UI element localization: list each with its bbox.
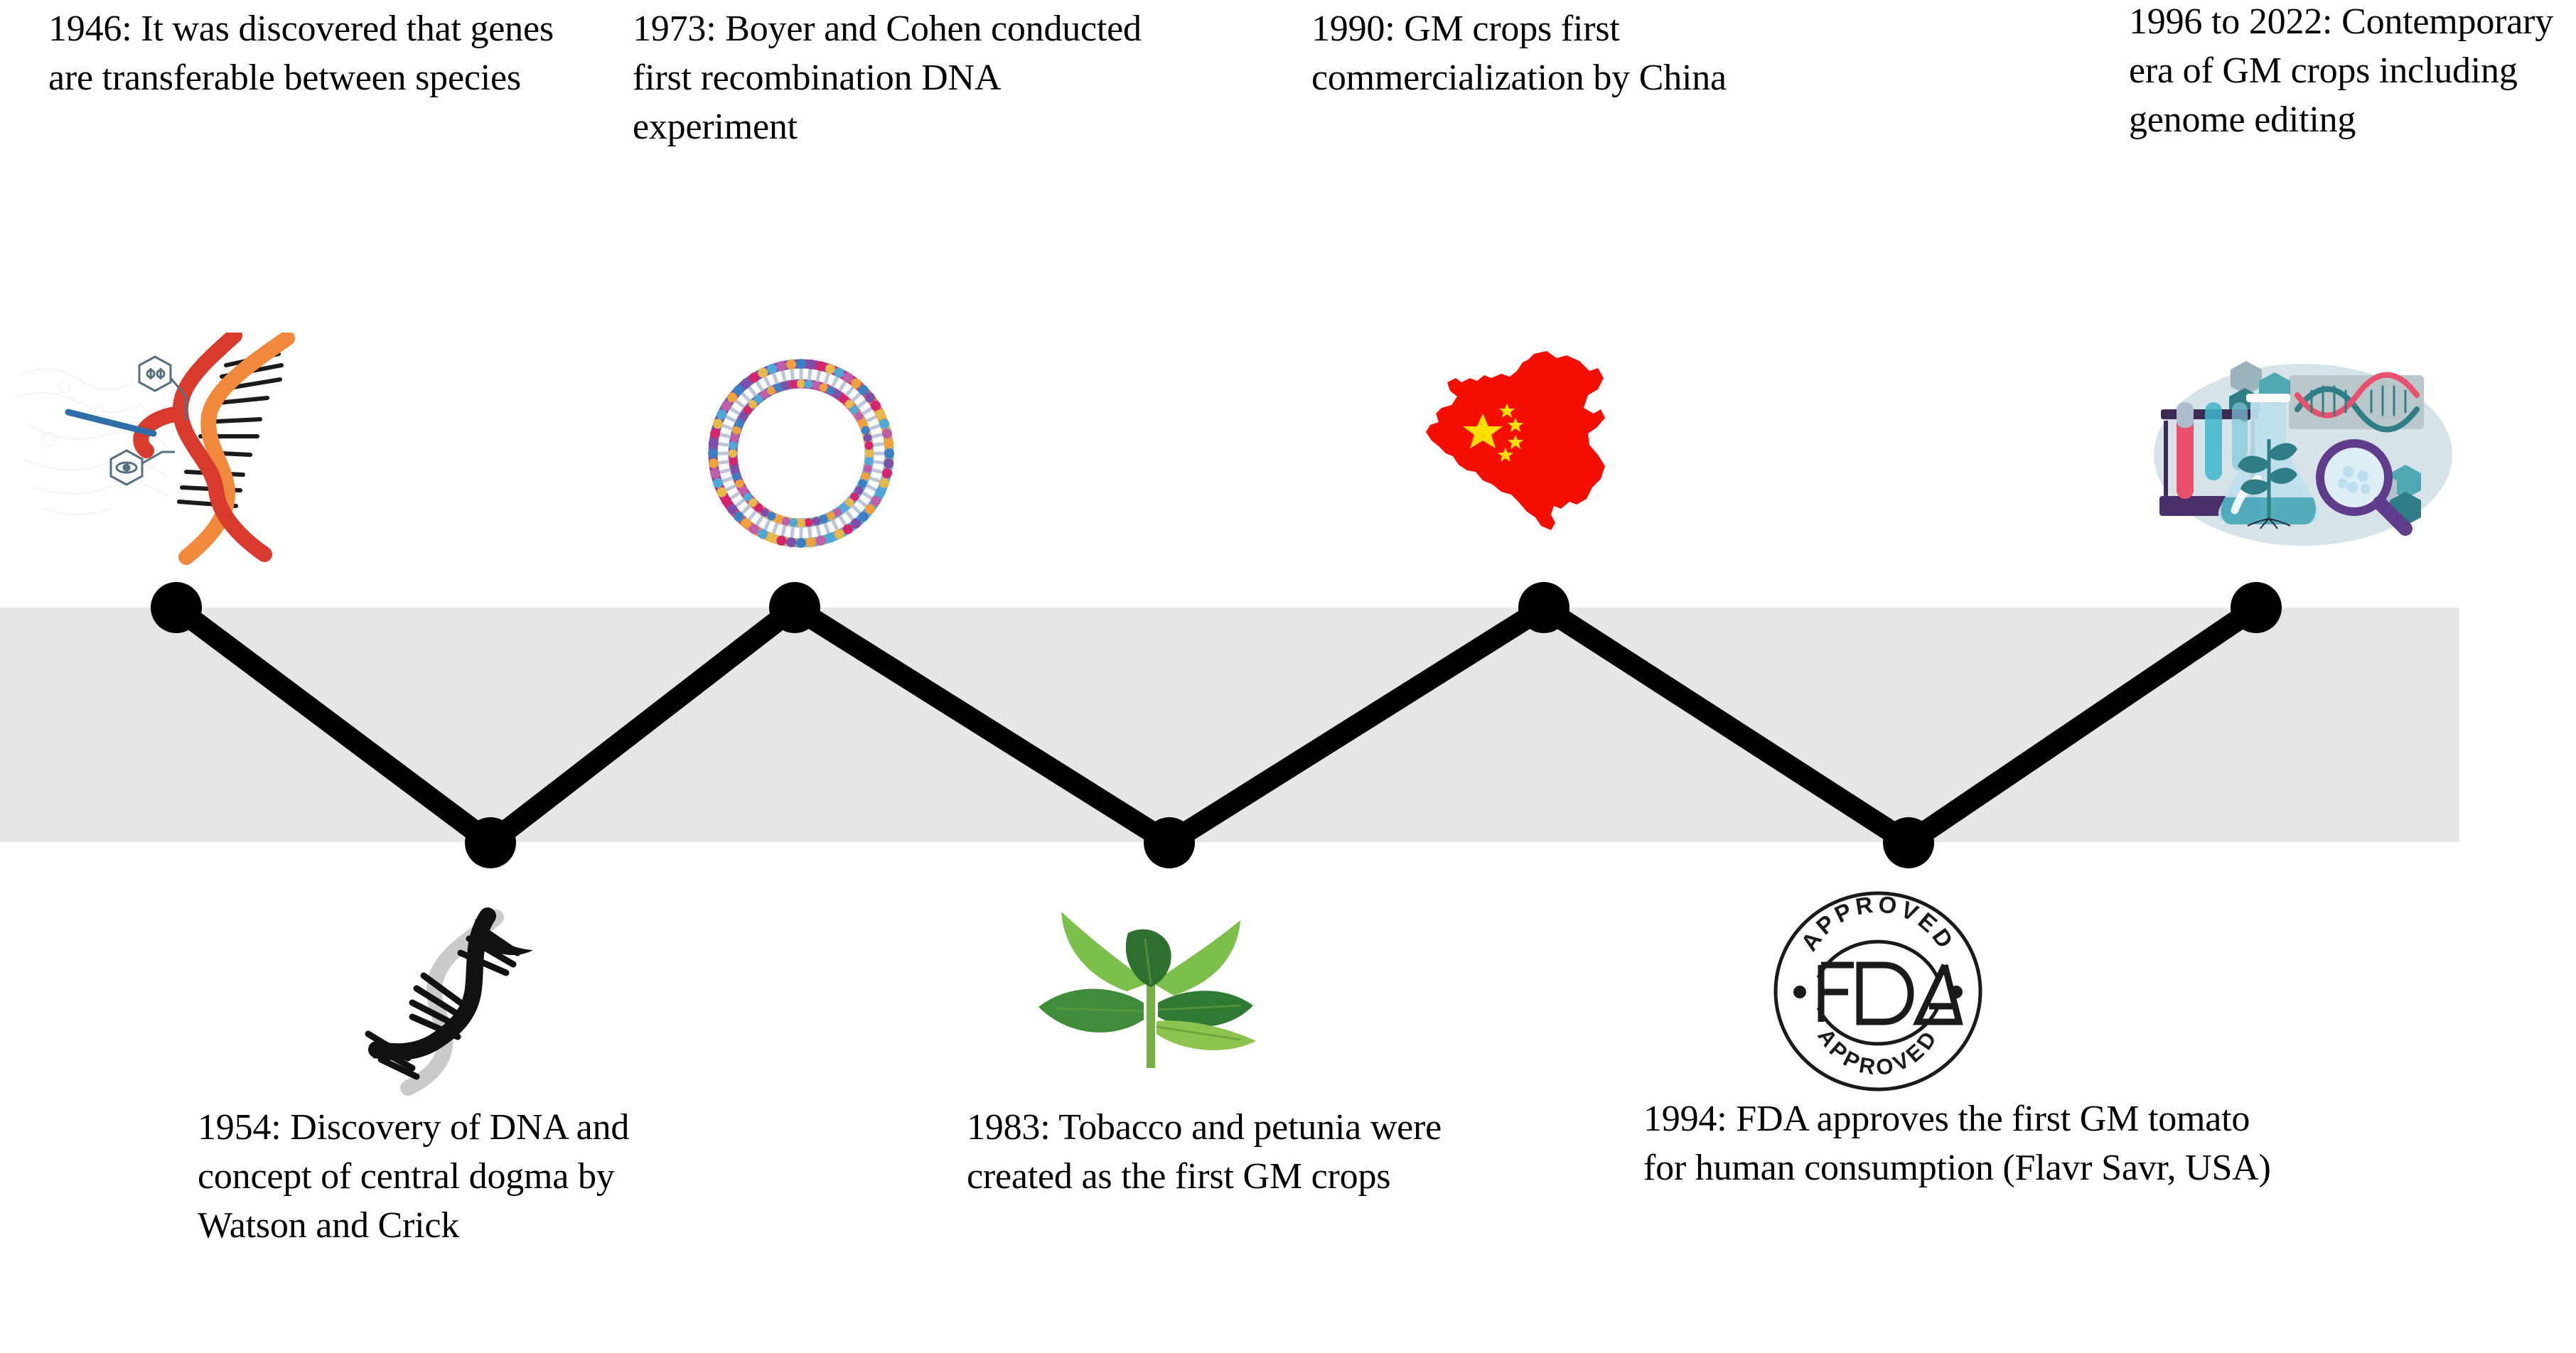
circular-plasmid-dna-illustration [700,340,903,567]
timeline-note-1946: 1946: It was discovered that genes are t… [48,4,589,102]
china-map-illustration [1415,334,1621,565]
biotech-lab-illustration [2140,341,2452,579]
timeline-background-band [0,608,2459,842]
timeline-note-1996-2022: 1996 to 2022: Contemporary era of GM cro… [2129,0,2555,144]
svg-text:APPROVED: APPROVED [1813,1024,1943,1080]
dna-double-helix-color-illustration [0,333,313,567]
timeline-note-1994: 1994: FDA approves the first GM tomato f… [1643,1094,2283,1192]
timeline-note-1983: 1983: Tobacco and petunia were created a… [967,1103,1507,1201]
fda-approved-seal-icon: APPROVED APPROVED [1771,888,1985,1094]
fda-seal-bottom-label: APPROVED [1813,1024,1943,1080]
timeline-note-1990: 1990: GM crops first commercialization b… [1311,4,1781,102]
tobacco-plant-illustration [1027,899,1269,1091]
fda-seal-top-label: APPROVED [1796,890,1960,956]
timeline-note-1954: 1954: Discovery of DNA and concept of ce… [198,1103,695,1250]
svg-text:APPROVED: APPROVED [1796,890,1960,956]
timeline-diagram: 1946: It was discovered that genes are t… [0,0,2576,1353]
dna-helix-monochrome-icon [348,885,562,1098]
timeline-note-1973: 1973: Boyer and Cohen conducted first re… [633,4,1159,151]
